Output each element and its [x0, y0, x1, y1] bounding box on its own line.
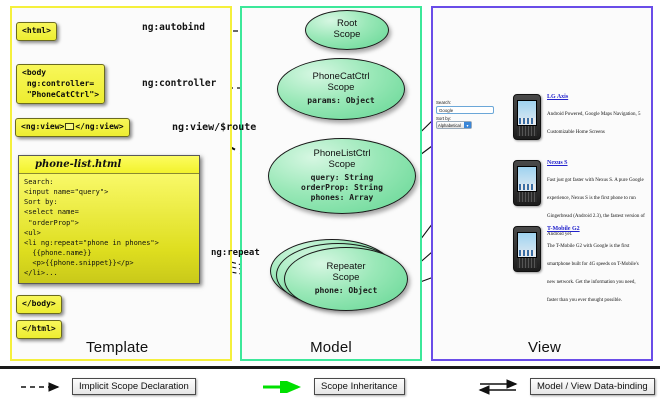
scope-phonelistctrl-props: query: String orderProp: String phones: …: [301, 173, 383, 203]
scope-root-name-1: Root: [337, 18, 357, 29]
legend-item-implicit-scope: Implicit Scope Declaration: [20, 378, 196, 395]
phone-name-link[interactable]: T-Mobile G2: [547, 226, 645, 232]
scope-phonelistctrl-name-1: PhoneListCtrl: [313, 148, 370, 159]
phone-description: The T-Mobile G2 with Google is the first…: [547, 244, 639, 303]
scope-phonecatctrl-name-1: PhoneCatCtrl: [312, 71, 369, 82]
phone-name-link[interactable]: LG Axis: [547, 94, 645, 100]
scope-phonelistctrl-name-2: Scope: [329, 159, 356, 170]
scope-repeater-name-1: Repeater: [326, 261, 365, 272]
chevron-down-icon: ▾: [464, 122, 471, 128]
sort-select[interactable]: Alphabetical▾: [436, 121, 472, 129]
scope-repeater: Repeater Scope phone: Object: [284, 247, 408, 311]
edge-label-autobind: ng:autobind: [142, 22, 205, 33]
phone-list-title: phone-list.html: [19, 156, 199, 174]
phone-list-callout: phone-list.html Search: <input name="que…: [18, 155, 200, 284]
scope-root-name-2: Scope: [334, 29, 361, 40]
scope-root: Root Scope: [305, 10, 389, 50]
phone-thumbnail-icon: [513, 94, 541, 140]
column-label-model: Model: [242, 339, 420, 356]
ngview-placeholder-box: [65, 123, 74, 130]
tag-html-close: </html>: [16, 320, 62, 339]
tag-html-open: <html>: [16, 22, 57, 41]
dashed-arrow-icon: [20, 381, 66, 393]
column-label-template: Template: [12, 339, 230, 356]
tag-ngview-open: <ng:view>: [21, 122, 64, 131]
diagram-root: Template <html> <body ng:controller= "Ph…: [0, 0, 660, 405]
edge-label-ngrepeat: ng:repeat: [211, 248, 260, 258]
search-input[interactable]: Google: [436, 106, 494, 114]
phone-list-code: Search: <input name="query"> Sort by: <s…: [19, 174, 199, 283]
green-arrow-icon: [262, 381, 308, 393]
scope-phonecatctrl-props: params: Object: [307, 96, 374, 106]
tag-body-close: </body>: [16, 295, 62, 314]
double-arrow-icon: [478, 379, 524, 395]
search-label: Search:: [436, 100, 498, 106]
phone-thumbnail-icon: [513, 226, 541, 272]
tag-ngview: <ng:view></ng:view>: [15, 118, 130, 137]
edge-label-ngview: ng:view/$route: [172, 122, 256, 133]
legend-item-scope-inheritance: Scope Inheritance: [262, 378, 405, 395]
phone-thumbnail-icon: [513, 160, 541, 206]
scope-phonelistctrl: PhoneListCtrl Scope query: String orderP…: [268, 138, 416, 214]
view-search-form: Search: Google Sort by: Alphabetical▾: [436, 100, 498, 129]
scope-repeater-props: phone: Object: [315, 286, 378, 296]
column-label-view: View: [433, 339, 651, 356]
tag-body-open: <body ng:controller= "PhoneCatCtrl">: [16, 64, 105, 104]
legend-label-implicit-scope: Implicit Scope Declaration: [72, 378, 196, 395]
tag-ngview-close: </ng:view>: [75, 122, 123, 131]
phone-description: Android Powered, Google Maps Navigation,…: [547, 112, 640, 135]
edge-label-controller: ng:controller: [142, 78, 216, 89]
list-item: T-Mobile G2 The T-Mobile G2 with Google …: [513, 226, 645, 306]
sort-select-value: Alphabetical: [438, 123, 461, 128]
legend-label-data-binding: Model / View Data-binding: [530, 378, 655, 395]
phone-name-link[interactable]: Nexus S: [547, 160, 645, 166]
scope-phonecatctrl-name-2: Scope: [328, 82, 355, 93]
list-item: LG Axis Android Powered, Google Maps Nav…: [513, 94, 645, 140]
scope-repeater-name-2: Scope: [333, 272, 360, 283]
legend: Implicit Scope Declaration Scope Inherit…: [0, 366, 660, 405]
scope-phonecatctrl: PhoneCatCtrl Scope params: Object: [277, 58, 405, 120]
legend-item-data-binding: Model / View Data-binding: [478, 378, 655, 395]
legend-label-scope-inheritance: Scope Inheritance: [314, 378, 405, 395]
